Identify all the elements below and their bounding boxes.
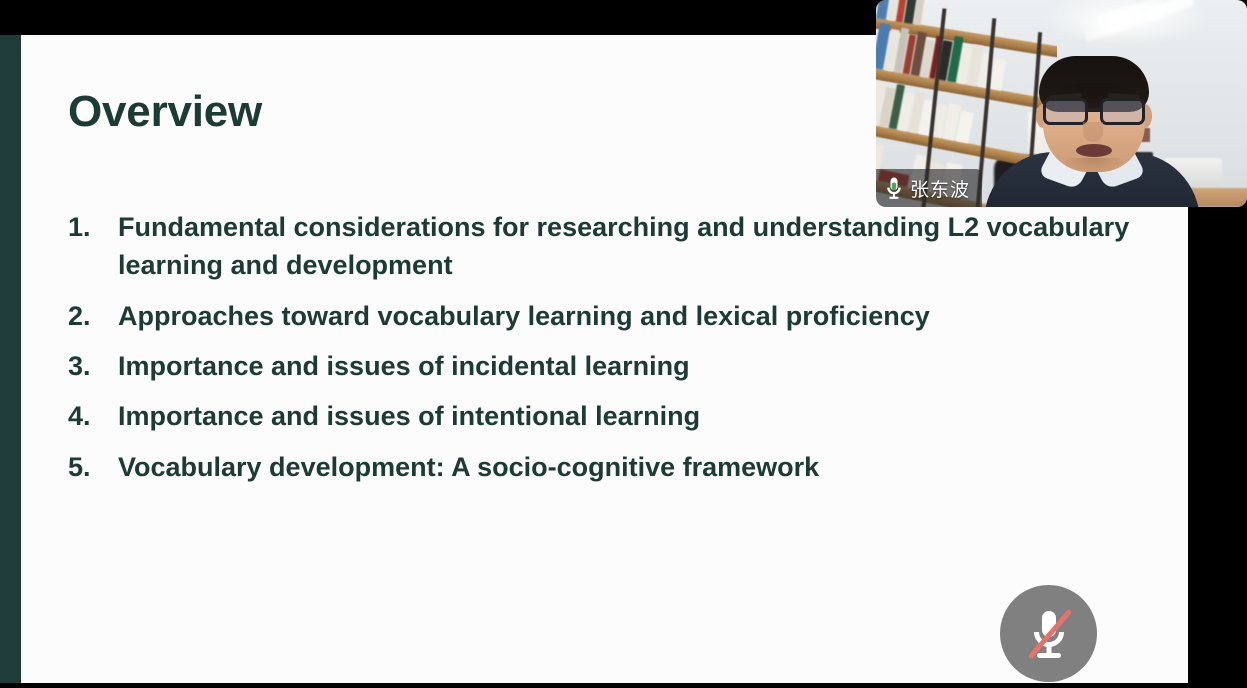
list-item: 4. Importance and issues of intentional …	[68, 397, 1148, 435]
list-item-number: 5.	[68, 448, 118, 486]
slide-numbered-list: 1. Fundamental considerations for resear…	[68, 208, 1148, 498]
participant-name-label: 张东波	[910, 175, 970, 202]
list-item-text: Fundamental considerations for researchi…	[118, 208, 1148, 285]
list-item-number: 1.	[68, 208, 118, 246]
list-item-text: Importance and issues of intentional lea…	[118, 397, 1148, 435]
participant-video-tile[interactable]: 张东波	[876, 0, 1247, 207]
screen-share-stage: Overview 1. Fundamental considerations f…	[0, 0, 1247, 688]
slide-title: Overview	[68, 89, 262, 135]
mouth	[1076, 144, 1112, 157]
list-item: 2. Approaches toward vocabulary learning…	[68, 297, 1148, 335]
list-item-number: 4.	[68, 397, 118, 435]
nose	[1083, 122, 1103, 142]
list-item: 1. Fundamental considerations for resear…	[68, 208, 1148, 285]
microphone-muted-icon	[1023, 605, 1075, 663]
list-item-text: Importance and issues of incidental lear…	[118, 347, 1148, 385]
list-item: 3. Importance and issues of incidental l…	[68, 347, 1148, 385]
chin-shading	[1062, 158, 1124, 172]
list-item-text: Vocabulary development: A socio-cognitiv…	[118, 448, 1148, 486]
list-item-text: Approaches toward vocabulary learning an…	[118, 297, 1148, 335]
list-item: 5. Vocabulary development: A socio-cogni…	[68, 448, 1148, 486]
list-item-number: 3.	[68, 347, 118, 385]
list-item-number: 2.	[68, 297, 118, 335]
mute-indicator-button[interactable]	[1000, 585, 1097, 682]
microphone-active-icon	[884, 176, 904, 200]
participant-name-badge: 张东波	[876, 169, 982, 207]
slide-accent-bar	[0, 35, 21, 683]
